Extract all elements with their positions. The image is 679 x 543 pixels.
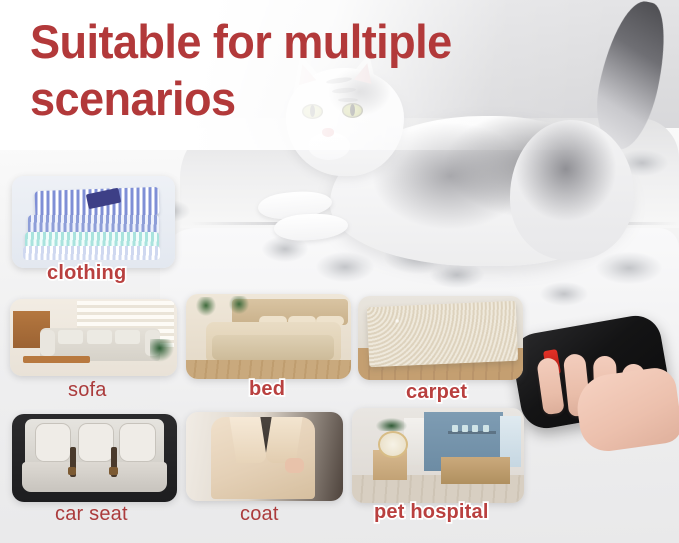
house-plant	[376, 418, 407, 431]
scenario-thumb-sofa[interactable]	[10, 299, 177, 376]
scenario-label-bed: bed	[249, 378, 285, 401]
clinic-logo-sign	[378, 431, 408, 458]
headline-line-1: Suitable for multiple	[30, 15, 452, 68]
duvet	[212, 335, 334, 361]
scenario-label-clothing: clothing	[47, 262, 126, 285]
scenario-label-sofa: sofa	[68, 379, 107, 402]
model-hand	[285, 458, 304, 472]
folded-shirt	[23, 246, 160, 260]
seat-belt-buckle	[68, 467, 76, 475]
seat-panel	[119, 423, 155, 462]
couch-cushion	[115, 330, 140, 345]
scenario-label-carpet: carpet	[406, 381, 467, 404]
clothing-photo	[12, 176, 175, 268]
couch-arm	[40, 330, 55, 356]
page-title: Suitable for multiple scenarios	[30, 13, 625, 127]
scenario-label-car-seat: car seat	[55, 503, 128, 526]
fur-tuft	[540, 282, 588, 306]
product-infographic-poster: Suitable for multiple scenarios clothing	[0, 0, 679, 543]
sofa-photo	[10, 299, 177, 376]
couch-cushion	[87, 330, 112, 345]
pet-hair-remover-tool	[516, 324, 679, 444]
coat-photo	[186, 412, 343, 501]
bed-photo	[186, 294, 351, 379]
seat-base	[22, 462, 167, 492]
scenario-thumb-carpet[interactable]	[358, 296, 523, 380]
pet-hospital-photo	[352, 408, 524, 503]
carpet-photo	[358, 296, 523, 380]
car-seat-photo	[12, 414, 177, 502]
house-plant	[196, 297, 216, 316]
scenario-label-pet-hospital: pet hospital	[374, 501, 489, 524]
scenario-label-coat: coat	[240, 503, 279, 526]
seat-panel	[35, 423, 71, 462]
wood-floor	[186, 360, 351, 379]
couch-cushion	[58, 330, 83, 345]
shelf-jar	[472, 425, 478, 432]
shelf-jar	[462, 425, 468, 432]
scenario-thumb-car-seat[interactable]	[12, 414, 177, 502]
shelf-jar	[452, 425, 458, 432]
coffee-table	[23, 356, 90, 363]
scenario-thumb-clothing[interactable]	[12, 176, 175, 268]
shelf-jar	[483, 425, 489, 432]
house-plant	[150, 339, 173, 362]
reception-counter	[441, 457, 510, 484]
house-plant	[229, 296, 249, 315]
seat-panel	[78, 423, 114, 462]
scenario-thumb-bed[interactable]	[186, 294, 351, 379]
scenario-thumb-pet-hospital[interactable]	[352, 408, 524, 503]
headline-line-2: scenarios	[30, 70, 625, 127]
seat-belt-buckle	[109, 467, 117, 475]
shag-rug	[367, 301, 518, 368]
scenario-thumb-coat[interactable]	[186, 412, 343, 501]
